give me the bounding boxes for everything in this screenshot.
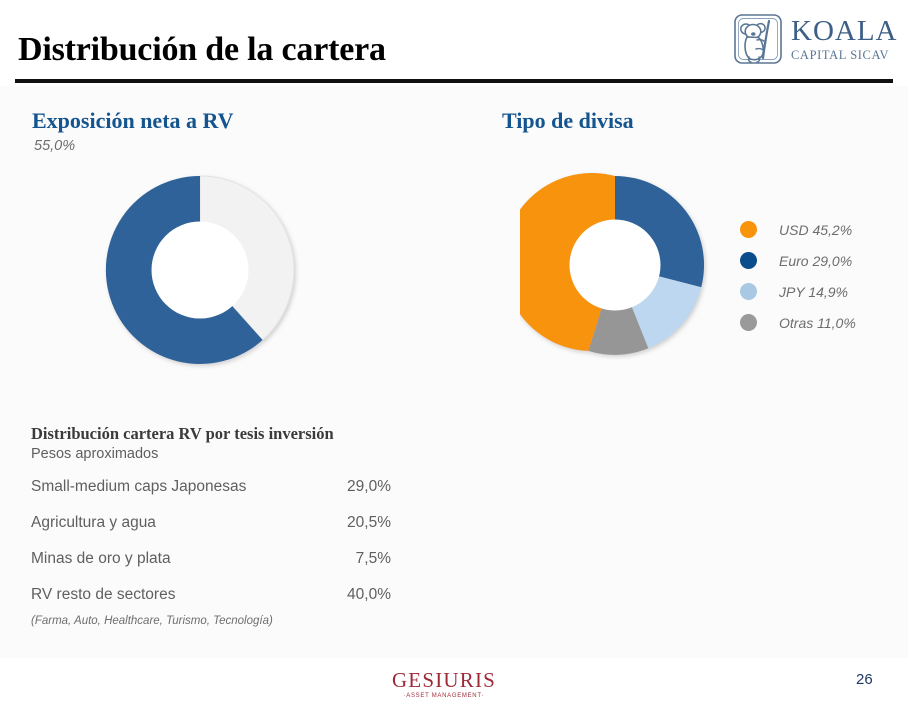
legend-dot-otras (740, 314, 757, 331)
page-title: Distribución de la cartera (18, 31, 386, 69)
thesis-name: Agricultura y agua (31, 514, 156, 532)
rv-exposure-value: 55,0% (34, 138, 75, 154)
brand-subtitle: CAPITAL SICAV (791, 49, 898, 62)
thesis-note: (Farma, Auto, Healthcare, Turismo, Tecno… (31, 615, 391, 627)
footer-logo-subtitle: ·ASSET MANAGEMENT· (388, 693, 500, 699)
legend-item-usd: USD 45,2% (740, 214, 900, 245)
thesis-pct: 29,0% (347, 478, 391, 496)
title-divider (15, 79, 893, 83)
donut-chart-exposicion-neta-rv (100, 170, 300, 370)
section-heading-rv: Exposición neta a RV (32, 108, 234, 134)
donut-chart-tipo-de-divisa (520, 170, 710, 360)
brand-wordmark: KOALA CAPITAL SICAV (791, 17, 898, 62)
footer-logo: GESIURIS ·ASSET MANAGEMENT· (388, 670, 500, 699)
legend-label-euro: Euro 29,0% (779, 253, 852, 269)
legend-label-otras: Otras 11,0% (779, 315, 856, 331)
fx-legend: USD 45,2% Euro 29,0% JPY 14,9% Otras 11,… (740, 214, 900, 338)
thesis-pct: 20,5% (347, 514, 391, 532)
koala-icon (733, 13, 783, 65)
table-row: Minas de oro y plata 7,5% (31, 550, 391, 586)
page-number: 26 (856, 671, 873, 688)
legend-label-jpy: JPY 14,9% (779, 284, 848, 300)
section-heading-fx: Tipo de divisa (502, 108, 634, 134)
thesis-rows: Small-medium caps Japonesas 29,0% Agricu… (31, 478, 391, 627)
table-row: Agricultura y agua 20,5% (31, 514, 391, 550)
footer-logo-name: GESIURIS (388, 670, 500, 691)
legend-item-euro: Euro 29,0% (740, 245, 900, 276)
thesis-name: RV resto de sectores (31, 586, 175, 604)
thesis-name: Minas de oro y plata (31, 550, 171, 568)
table-row: Small-medium caps Japonesas 29,0% (31, 478, 391, 514)
legend-dot-usd (740, 221, 757, 238)
thesis-name: Small-medium caps Japonesas (31, 478, 246, 496)
legend-label-usd: USD 45,2% (779, 222, 852, 238)
legend-dot-euro (740, 252, 757, 269)
brand-name: KOALA (791, 17, 898, 46)
legend-item-otras: Otras 11,0% (740, 307, 900, 338)
legend-item-jpy: JPY 14,9% (740, 276, 900, 307)
thesis-pct: 7,5% (356, 550, 391, 568)
thesis-distribution-block: Distribución cartera RV por tesis invers… (31, 424, 391, 627)
slide: Distribución de la cartera KOALA CAPITAL (0, 0, 908, 704)
thesis-title: Distribución cartera RV por tesis invers… (31, 424, 391, 444)
legend-dot-jpy (740, 283, 757, 300)
thesis-subtitle: Pesos aproximados (31, 446, 391, 462)
thesis-pct: 40,0% (347, 586, 391, 604)
brand-logo: KOALA CAPITAL SICAV (733, 11, 888, 67)
